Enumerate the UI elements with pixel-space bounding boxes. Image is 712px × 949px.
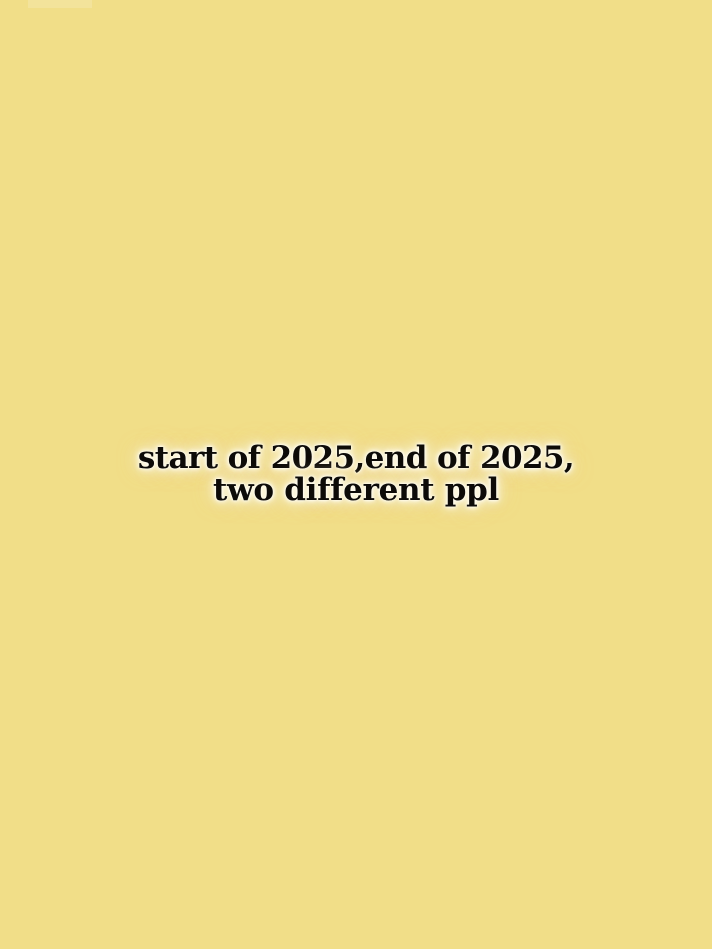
- caption-line-2: two different ppl: [36, 474, 676, 506]
- caption-line-1: start of 2025,end of 2025,: [36, 442, 676, 474]
- caption-text-block: start of 2025,end of 2025, two different…: [36, 442, 676, 506]
- caption-overlay: start of 2025,end of 2025, two different…: [0, 0, 712, 949]
- image-canvas: start of 2025,end of 2025, two different…: [0, 0, 712, 949]
